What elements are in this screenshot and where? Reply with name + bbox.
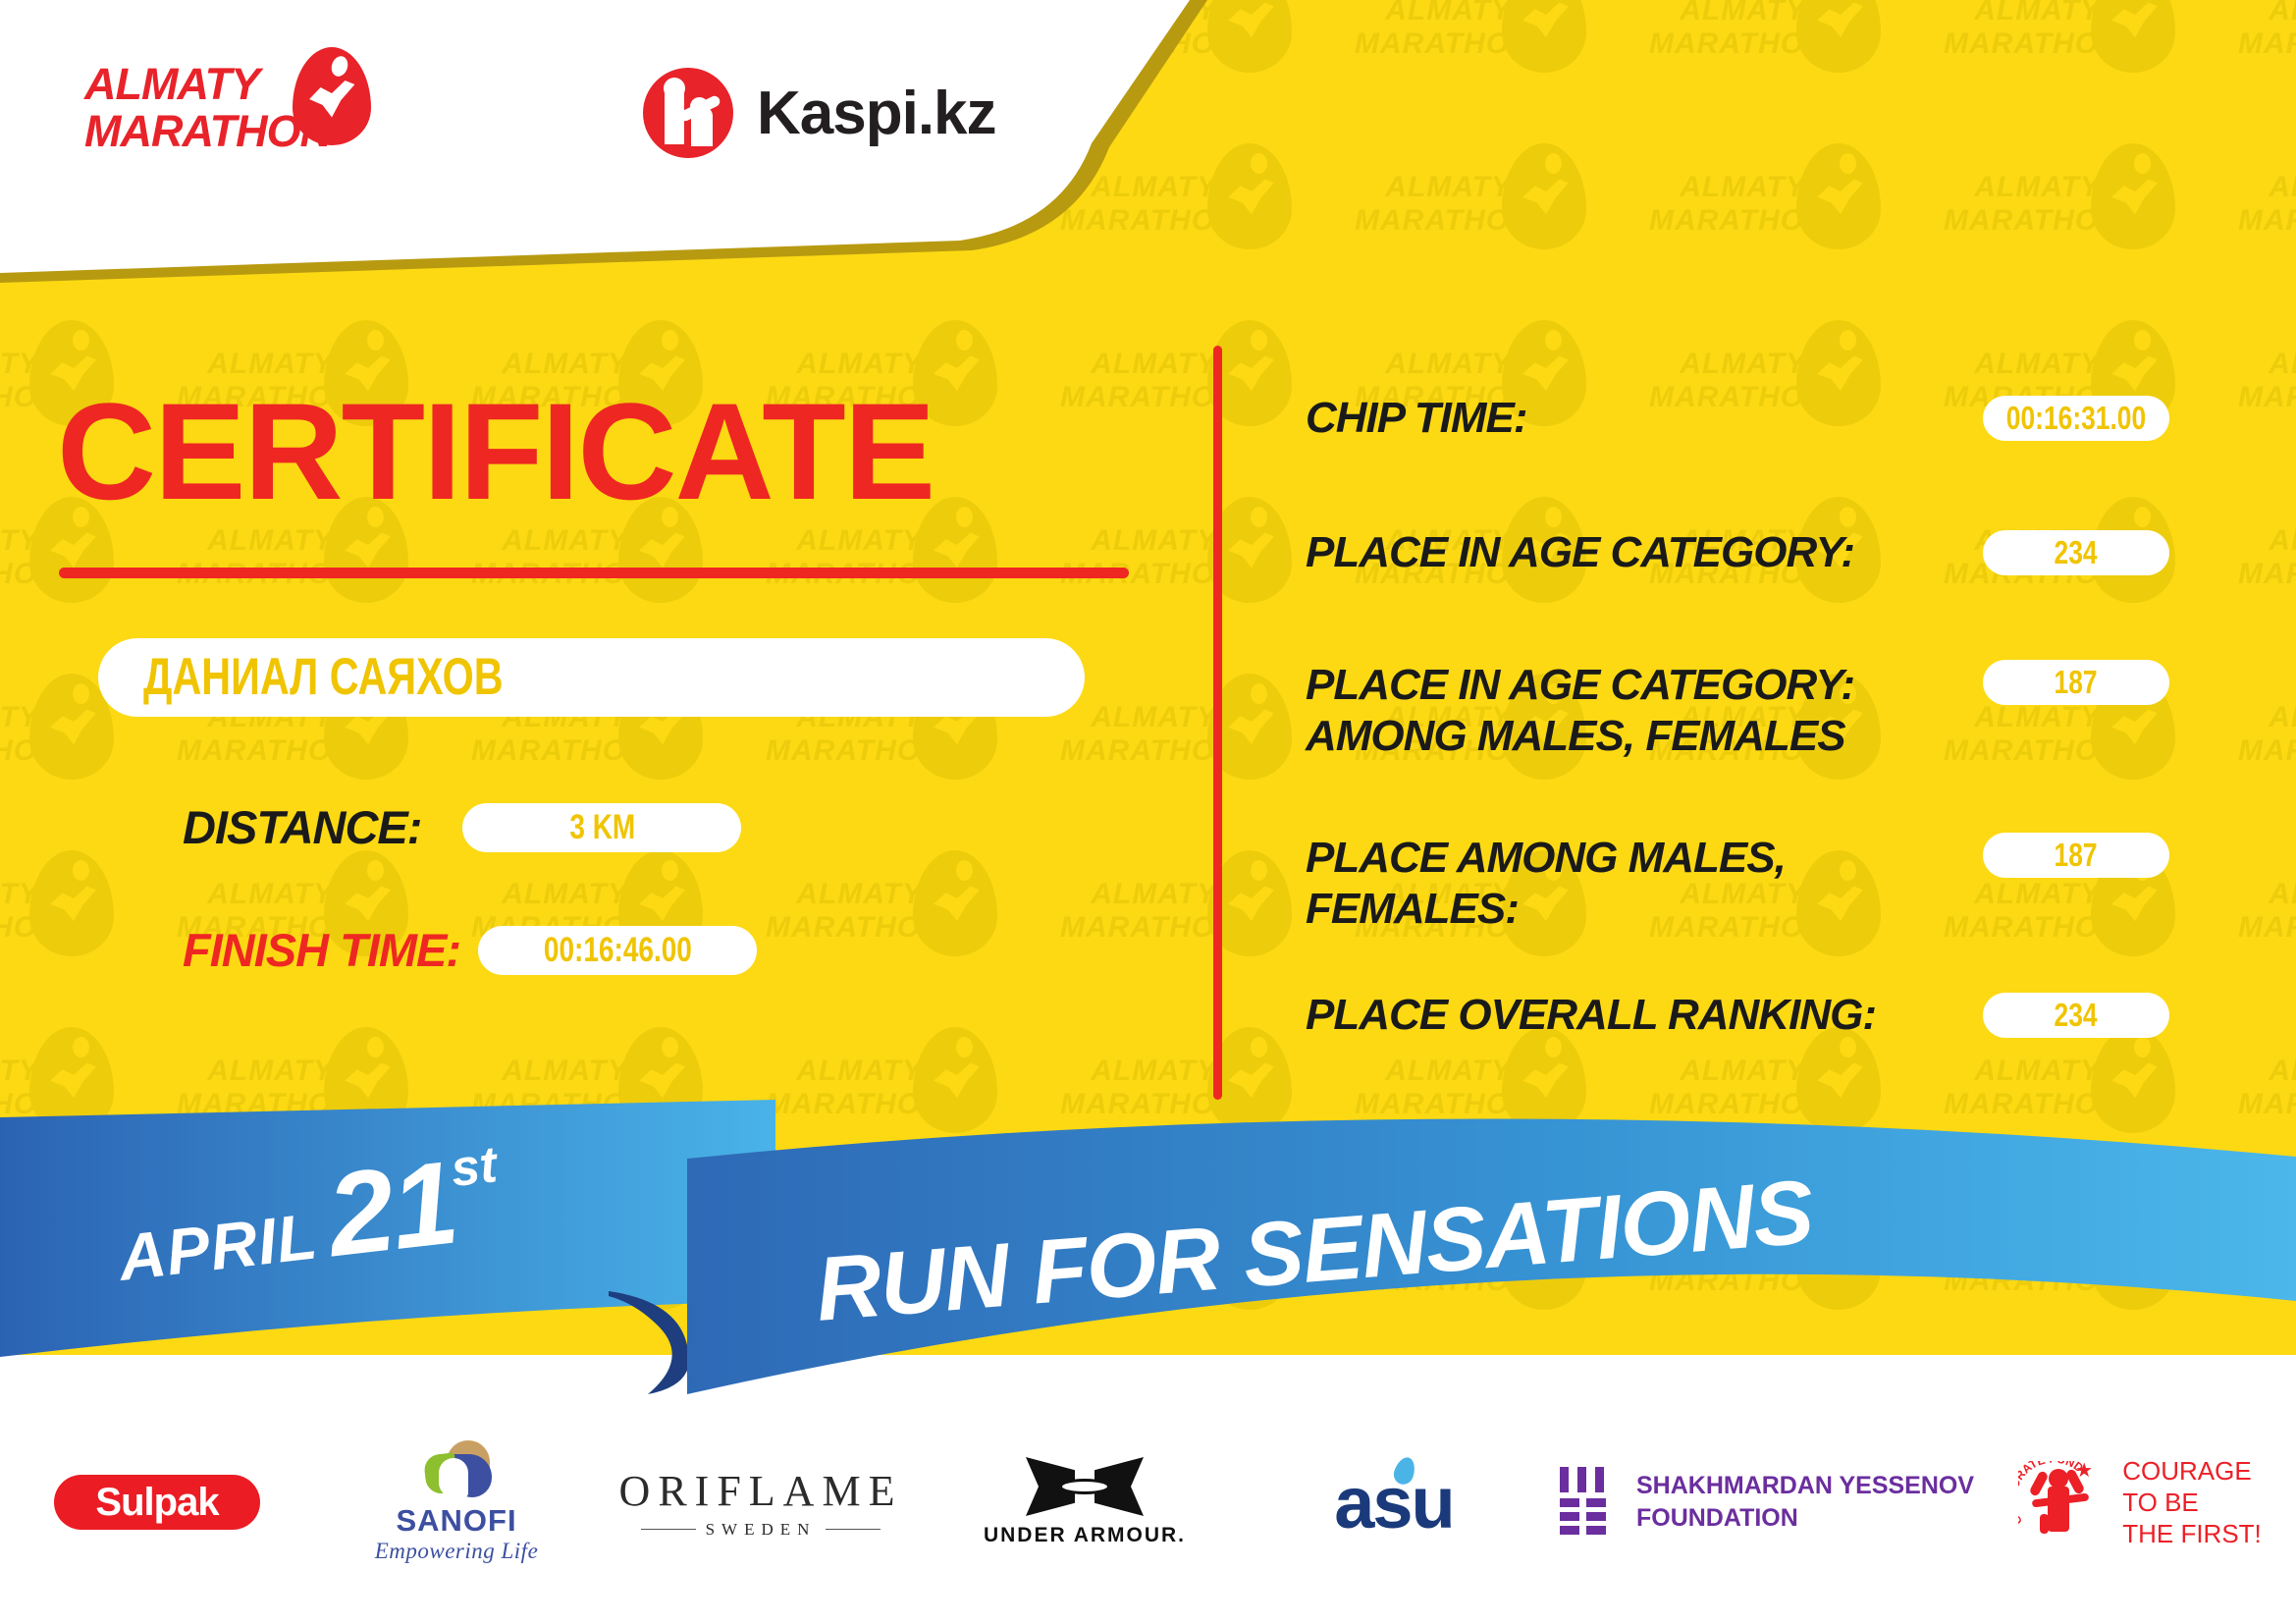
watermark-label: ALMATYMARATHON <box>1355 171 1512 238</box>
kaspi-wordmark: Kaspi.kz <box>757 79 996 148</box>
certificate-page: ALMATYMARATHONALMATYMARATHONALMATYMARATH… <box>0 0 2296 1624</box>
stat-pill-distance: 3 KM <box>462 803 741 852</box>
watermark-label: ALMATYMARATHON <box>766 524 923 591</box>
almaty-marathon-logo: ALMATY MARATHON <box>84 47 408 155</box>
watermark-label: ALMATYMARATHON <box>1649 171 1806 238</box>
watermark-runner-icon <box>1502 143 1586 249</box>
stat-pill-place-age-category: 234 <box>1983 530 2169 575</box>
sanofi-icon <box>421 1440 492 1497</box>
stat-value-distance: 3 KM <box>569 808 635 847</box>
stat-pill-place-age-category-among: 187 <box>1983 660 2169 705</box>
stat-label-place-age-category: PLACE IN AGE CATEGORY: <box>1306 527 1854 578</box>
event-day-suffix: st <box>448 1135 500 1199</box>
oriflame-tagline: SWEDEN <box>706 1520 817 1540</box>
watermark-label: ALMATYMARATHON <box>2238 171 2296 238</box>
stat-label-place-among-males-females: PLACE AMONG MALES, FEMALES: <box>1306 833 1786 935</box>
sponsor-under-armour: UNDER ARMOUR. <box>923 1457 1247 1547</box>
watermark-label: ALMATYMARATHON <box>2238 524 2296 591</box>
watermark-tile: ALMATYMARATHON <box>2238 137 2296 304</box>
watermark-tile: ALMATYMARATHON <box>1649 137 1944 304</box>
watermark-runner-icon <box>2091 0 2175 73</box>
watermark-label: ALMATYMARATHON <box>1060 524 1217 591</box>
watermark-runner-icon <box>1796 0 1881 73</box>
stat-pill-finish-time: 00:16:46.00 <box>478 926 757 975</box>
watermark-tile: ALMATYMARATHON <box>2238 314 2296 481</box>
watermark-label: ALMATYMARATHON <box>0 524 39 591</box>
event-month: APRIL <box>115 1198 321 1294</box>
sponsor-oriflame: ORIFLAME SWEDEN <box>599 1466 923 1540</box>
watermark-label: ALMATYMARATHON <box>2238 348 2296 414</box>
stat-pill-place-among-males-females: 187 <box>1983 833 2169 878</box>
under-armour-wordmark: UNDER ARMOUR. <box>984 1524 1186 1547</box>
kaspi-people-icon <box>643 68 733 158</box>
sponsor-sulpak: Sulpak <box>0 1475 314 1530</box>
stat-pill-chip-time: 00:16:31.00 <box>1983 396 2169 441</box>
corporate-fund-icon: CORPORATE FUND ★ <box>2018 1457 2109 1547</box>
stat-row-place-overall-ranking: PLACE OVERALL RANKING: 234 <box>1306 990 2169 1041</box>
stat-value-place-age-category-among: 187 <box>2055 664 2098 701</box>
watermark-label: ALMATYMARATHON <box>0 878 39 945</box>
stat-row-distance: DISTANCE: 3 KM <box>183 800 741 854</box>
sponsor-corporate-fund: CORPORATE FUND ★ COURAGE TO BE THE FIRST… <box>1993 1455 2287 1549</box>
watermark-label: ALMATYMARATHON <box>2238 701 2296 768</box>
participant-name-value: ДАНИАЛ САЯХОВ <box>143 649 504 706</box>
watermark-label: ALMATYMARATHON <box>1060 878 1217 945</box>
stat-label-place-overall-ranking: PLACE OVERALL RANKING: <box>1306 990 1876 1041</box>
stat-label-finish-time: FINISH TIME: <box>183 923 460 977</box>
stat-row-chip-time: CHIP TIME: 00:16:31.00 <box>1306 393 2169 444</box>
yessenov-wordmark: SHAKHMARDAN YESSENOV FOUNDATION <box>1636 1470 1974 1535</box>
watermark-tile: ALMATYMARATHON <box>1355 137 1649 304</box>
watermark-label: ALMATYMARATHON <box>0 348 39 414</box>
watermark-label: ALMATYMARATHON <box>1060 701 1217 768</box>
watermark-runner-icon <box>913 850 997 956</box>
watermark-tile: ALMATYMARATHON <box>2238 844 2296 1011</box>
watermark-tile: ALMATYMARATHON <box>1649 0 1944 128</box>
stat-value-chip-time: 00:16:31.00 <box>2006 400 2146 437</box>
watermark-runner-icon <box>29 850 114 956</box>
watermark-tile: ALMATYMARATHON <box>2238 491 2296 658</box>
watermark-label: ALMATYMARATHON <box>766 878 923 945</box>
watermark-label: ALMATYMARATHON <box>1944 0 2101 61</box>
sponsor-logos: Sulpak SANOFI Empowering Life ORIFLAME S… <box>0 1414 2296 1591</box>
stat-row-place-age-category: PLACE IN AGE CATEGORY: 234 <box>1306 527 2169 578</box>
stat-row-place-among-males-females: PLACE AMONG MALES, FEMALES: 187 <box>1306 833 2169 935</box>
kaspi-logo: Kaspi.kz <box>643 59 996 167</box>
stat-value-place-among-males-females: 187 <box>2055 837 2098 874</box>
sulpak-wordmark: Sulpak <box>95 1481 218 1525</box>
watermark-label: ALMATYMARATHON <box>2238 878 2296 945</box>
watermark-runner-icon <box>1207 143 1292 249</box>
stat-value-place-overall-ranking: 234 <box>2055 997 2098 1034</box>
stat-pill-place-overall-ranking: 234 <box>1983 993 2169 1038</box>
event-day: 21 <box>321 1134 462 1283</box>
sponsor-yessenov-foundation: SHAKHMARDAN YESSENOV FOUNDATION <box>1541 1467 1993 1538</box>
watermark-tile: ALMATYMARATHON <box>1944 137 2238 304</box>
stat-row-place-age-category-among: PLACE IN AGE CATEGORY: AMONG MALES, FEMA… <box>1306 660 2169 762</box>
watermark-label: ALMATYMARATHON <box>0 701 39 768</box>
watermark-tile: ALMATYMARATHON <box>766 844 1060 1011</box>
sanofi-tagline: Empowering Life <box>375 1539 539 1564</box>
stat-label-chip-time: CHIP TIME: <box>1306 393 1526 444</box>
stat-value-finish-time: 00:16:46.00 <box>544 931 692 970</box>
watermark-tile: ALMATYMARATHON <box>2238 668 2296 835</box>
watermark-runner-icon <box>1796 143 1881 249</box>
yessenov-icon <box>1560 1467 1615 1538</box>
watermark-runner-icon <box>1502 0 1586 73</box>
stat-value-place-age-category: 234 <box>2055 534 2098 571</box>
watermark-label: ALMATYMARATHON <box>1649 0 1806 61</box>
watermark-label: ALMATYMARATHON <box>2238 0 2296 61</box>
column-divider <box>1213 346 1222 1100</box>
watermark-label: ALMATYMARATHON <box>1944 171 2101 238</box>
under-armour-icon <box>1026 1457 1144 1516</box>
stat-label-distance: DISTANCE: <box>183 800 421 854</box>
watermark-label: ALMATYMARATHON <box>177 524 334 591</box>
sponsor-asu: asu <box>1247 1461 1541 1544</box>
sanofi-wordmark: SANOFI <box>375 1503 539 1539</box>
page-title: CERTIFICATE <box>57 383 934 520</box>
title-underline <box>59 568 1129 578</box>
participant-name-field: ДАНИАЛ САЯХОВ <box>98 638 1085 717</box>
stat-label-place-age-category-among: PLACE IN AGE CATEGORY: AMONG MALES, FEMA… <box>1306 660 1854 762</box>
watermark-tile: ALMATYMARATHON <box>1944 0 2238 128</box>
watermark-tile: ALMATYMARATHON <box>0 844 177 1011</box>
watermark-tile: ALMATYMARATHON <box>1355 0 1649 128</box>
sponsor-sanofi: SANOFI Empowering Life <box>314 1440 599 1564</box>
stat-row-finish-time: FINISH TIME: 00:16:46.00 <box>183 923 757 977</box>
watermark-runner-icon <box>1207 0 1292 73</box>
watermark-tile: ALMATYMARATHON <box>2238 0 2296 128</box>
watermark-label: ALMATYMARATHON <box>1355 0 1512 61</box>
oriflame-wordmark: ORIFLAME <box>619 1466 903 1516</box>
watermark-runner-icon <box>2091 143 2175 249</box>
watermark-label: ALMATYMARATHON <box>1060 348 1217 414</box>
watermark-label: ALMATYMARATHON <box>471 524 628 591</box>
corporate-fund-tagline: COURAGE TO BE THE FIRST! <box>2122 1455 2262 1549</box>
